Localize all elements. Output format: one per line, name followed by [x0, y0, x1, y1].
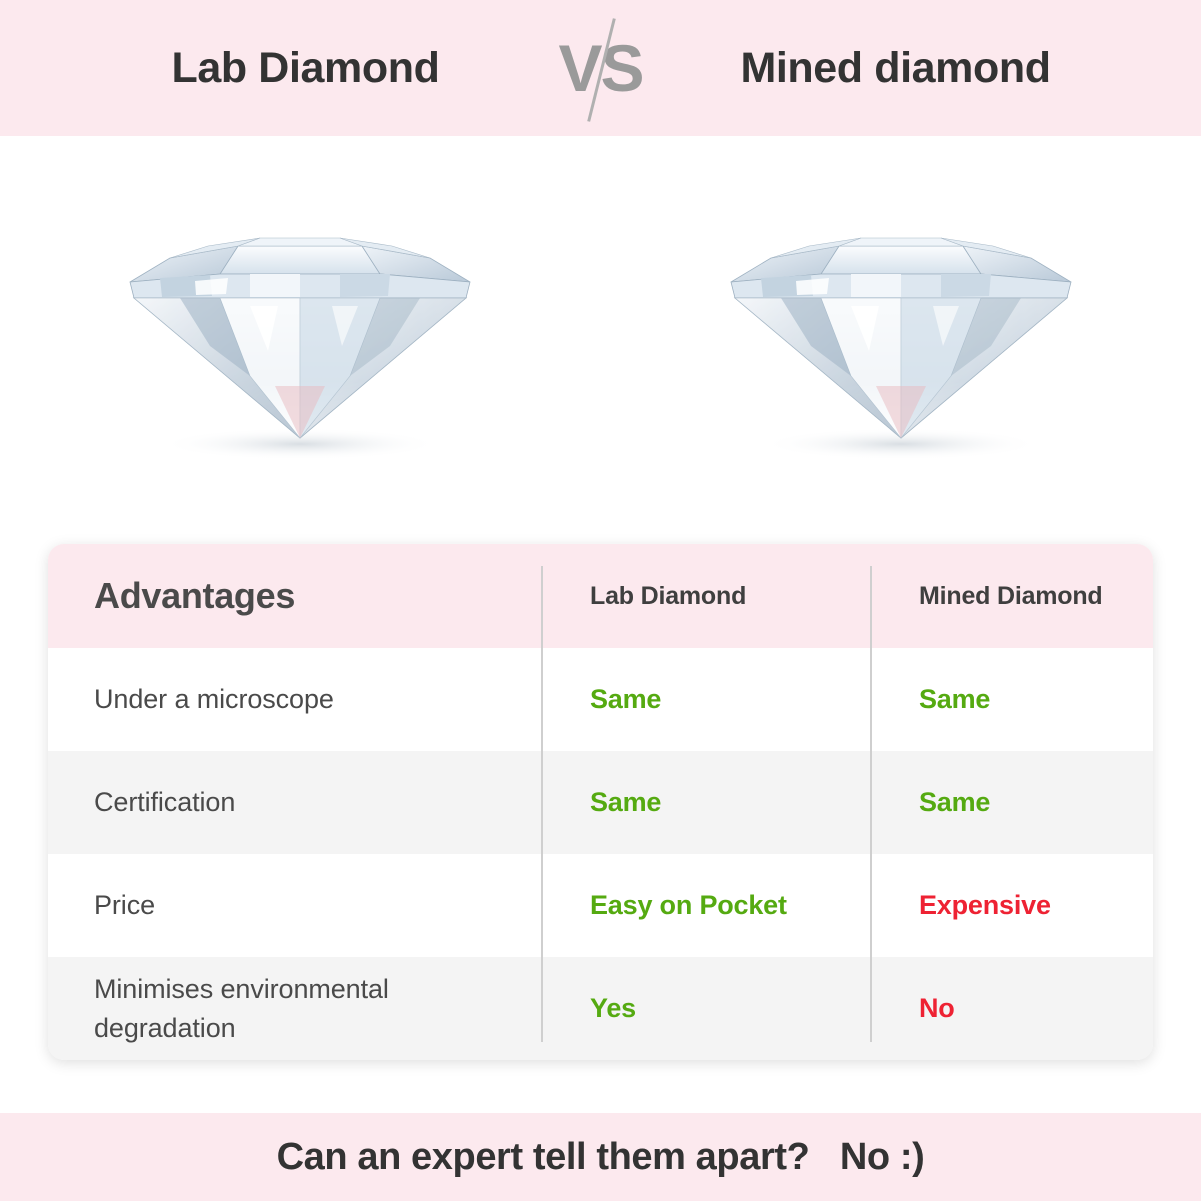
- header-banner-inner: Lab Diamond VS Mined diamond: [0, 13, 1201, 123]
- header-label-mined-diamond: Mined Diamond: [919, 582, 1103, 610]
- row-feature-label: Certification: [94, 787, 235, 817]
- row-lab-cell: Easy on Pocket: [542, 890, 871, 921]
- mined-diamond-title: Mined diamond: [656, 44, 1136, 93]
- row-lab-value: Same: [590, 684, 661, 714]
- row-feature-label: Minimises environmental degradation: [94, 974, 389, 1042]
- diamond-images-row: [0, 136, 1201, 526]
- row-feature-cell: Under a microscope: [48, 680, 542, 718]
- footer-question: Can an expert tell them apart? No :): [277, 1136, 925, 1179]
- header-label-advantages: Advantages: [94, 575, 295, 616]
- table-header-row: Advantages Lab Diamond Mined Diamond: [48, 544, 1153, 648]
- row-mined-value: No: [919, 993, 955, 1023]
- row-feature-label: Price: [94, 890, 155, 920]
- row-feature-cell: Certification: [48, 783, 542, 821]
- row-mined-value: Same: [919, 684, 990, 714]
- row-mined-cell: No: [871, 993, 1153, 1024]
- row-feature-cell: Minimises environmental degradation: [48, 970, 542, 1047]
- column-divider-2: [870, 566, 872, 1042]
- table-row: Minimises environmental degradation Yes …: [48, 957, 1153, 1060]
- header-cell-advantages: Advantages: [48, 575, 542, 617]
- comparison-table-card: Advantages Lab Diamond Mined Diamond Und…: [48, 544, 1153, 1060]
- header-cell-mined-diamond: Mined Diamond: [871, 582, 1153, 611]
- lab-diamond-icon: [100, 186, 500, 476]
- mined-diamond-image-cell: [601, 136, 1201, 526]
- row-mined-cell: Expensive: [871, 890, 1153, 921]
- comparison-table: Advantages Lab Diamond Mined Diamond Und…: [48, 544, 1153, 1060]
- table-row: Under a microscope Same Same: [48, 648, 1153, 751]
- row-lab-value: Same: [590, 787, 661, 817]
- mined-diamond-icon: [701, 186, 1101, 476]
- vs-badge: VS: [546, 13, 656, 123]
- lab-diamond-title: Lab Diamond: [66, 44, 546, 93]
- row-mined-value: Expensive: [919, 890, 1051, 920]
- header-label-lab-diamond: Lab Diamond: [590, 582, 746, 610]
- column-divider-1: [541, 566, 543, 1042]
- header-banner: Lab Diamond VS Mined diamond: [0, 0, 1201, 136]
- row-mined-value: Same: [919, 787, 990, 817]
- row-mined-cell: Same: [871, 684, 1153, 715]
- row-lab-value: Yes: [590, 993, 636, 1023]
- row-lab-cell: Same: [542, 684, 871, 715]
- row-lab-cell: Yes: [542, 993, 871, 1024]
- footer-banner: Can an expert tell them apart? No :): [0, 1113, 1201, 1201]
- lab-diamond-image-cell: [0, 136, 601, 526]
- row-lab-value: Easy on Pocket: [590, 890, 787, 920]
- row-feature-cell: Price: [48, 886, 542, 924]
- row-mined-cell: Same: [871, 787, 1153, 818]
- table-row: Certification Same Same: [48, 751, 1153, 854]
- header-cell-lab-diamond: Lab Diamond: [542, 582, 871, 611]
- table-row: Price Easy on Pocket Expensive: [48, 854, 1153, 957]
- row-lab-cell: Same: [542, 787, 871, 818]
- row-feature-label: Under a microscope: [94, 684, 334, 714]
